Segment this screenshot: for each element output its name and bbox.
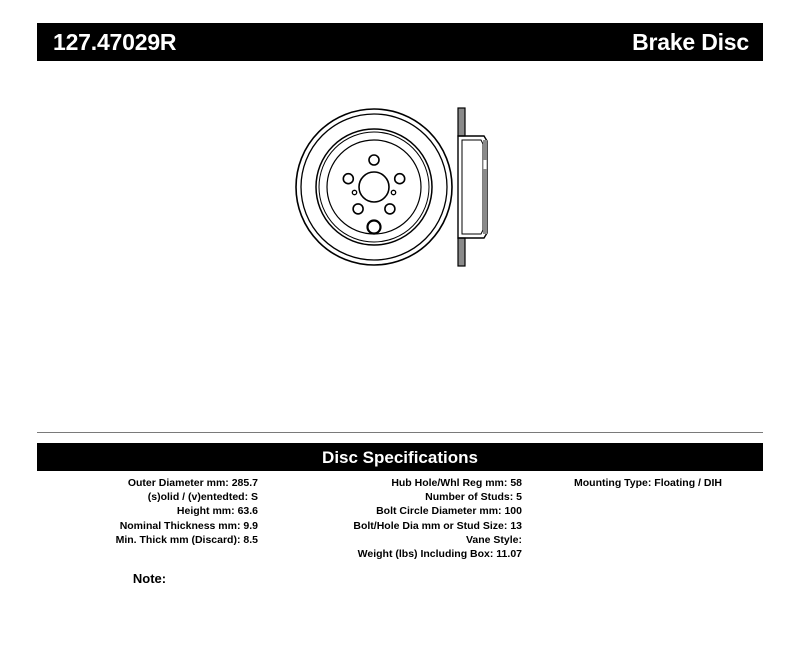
- spec-table: Outer Diameter mm: 285.7 (s)olid / (v)en…: [37, 476, 763, 561]
- section-divider: [37, 432, 763, 433]
- header-bar: 127.47029R Brake Disc: [37, 23, 763, 61]
- product-type: Brake Disc: [632, 31, 749, 54]
- spec-label: Bolt Circle Diameter mm:: [376, 505, 504, 517]
- spec-value: 8.5: [243, 534, 258, 546]
- spec-title: Disc Specifications: [322, 449, 478, 466]
- spec-column-left: Outer Diameter mm: 285.7 (s)olid / (v)en…: [37, 476, 262, 547]
- spec-row: Outer Diameter mm: 285.7: [37, 476, 258, 490]
- note-section: Note:: [37, 570, 262, 588]
- spec-label: Nominal Thickness mm:: [120, 520, 244, 532]
- spec-value: 9.9: [243, 520, 258, 532]
- spec-value: 5: [516, 491, 522, 503]
- spec-value: 100: [504, 505, 522, 517]
- spec-row: (s)olid / (v)entedted: S: [37, 490, 258, 504]
- part-number: 127.47029R: [53, 31, 176, 54]
- spec-value: 13: [510, 520, 522, 532]
- spec-row: Nominal Thickness mm: 9.9: [37, 519, 258, 533]
- spec-label: Hub Hole/Whl Reg mm:: [391, 477, 510, 489]
- spec-label: Bolt/Hole Dia mm or Stud Size:: [353, 520, 510, 532]
- spec-label: (s)olid / (v)entedted:: [148, 491, 251, 503]
- spec-value: 58: [510, 477, 522, 489]
- spec-column-right: Mounting Type: Floating / DIH: [526, 476, 763, 490]
- rotor-front-view: [296, 109, 452, 265]
- spec-label: Number of Studs:: [425, 491, 516, 503]
- spec-title-bar: Disc Specifications: [37, 443, 763, 471]
- spec-row: Bolt/Hole Dia mm or Stud Size: 13: [262, 519, 522, 533]
- spec-value: 285.7: [232, 477, 258, 489]
- spec-row: Height mm: 63.6: [37, 504, 258, 518]
- spec-label: Mounting Type:: [574, 477, 654, 489]
- spec-row: Weight (lbs) Including Box: 11.07: [262, 547, 522, 561]
- spec-value: S: [251, 491, 258, 503]
- spec-row: Min. Thick mm (Discard): 8.5: [37, 533, 258, 547]
- spec-value: 63.6: [238, 505, 258, 517]
- spec-row: Bolt Circle Diameter mm: 100: [262, 504, 522, 518]
- rotor-drawing: [280, 100, 530, 285]
- spec-row: Vane Style:: [262, 533, 522, 547]
- rotor-side-section-view: [458, 108, 487, 266]
- spec-label: Height mm:: [177, 505, 238, 517]
- spec-value: 11.07: [496, 548, 522, 560]
- spec-column-middle: Hub Hole/Whl Reg mm: 58 Number of Studs:…: [262, 476, 526, 561]
- spec-label: Outer Diameter mm:: [128, 477, 232, 489]
- spec-label: Min. Thick mm (Discard):: [116, 534, 244, 546]
- spec-row: Hub Hole/Whl Reg mm: 58: [262, 476, 522, 490]
- spec-value: Floating / DIH: [654, 477, 722, 489]
- spec-row: Mounting Type: Floating / DIH: [574, 476, 763, 490]
- spec-row: Number of Studs: 5: [262, 490, 522, 504]
- note-label: Note:: [133, 571, 166, 586]
- spec-label: Vane Style:: [466, 534, 522, 546]
- spec-label: Weight (lbs) Including Box:: [358, 548, 497, 560]
